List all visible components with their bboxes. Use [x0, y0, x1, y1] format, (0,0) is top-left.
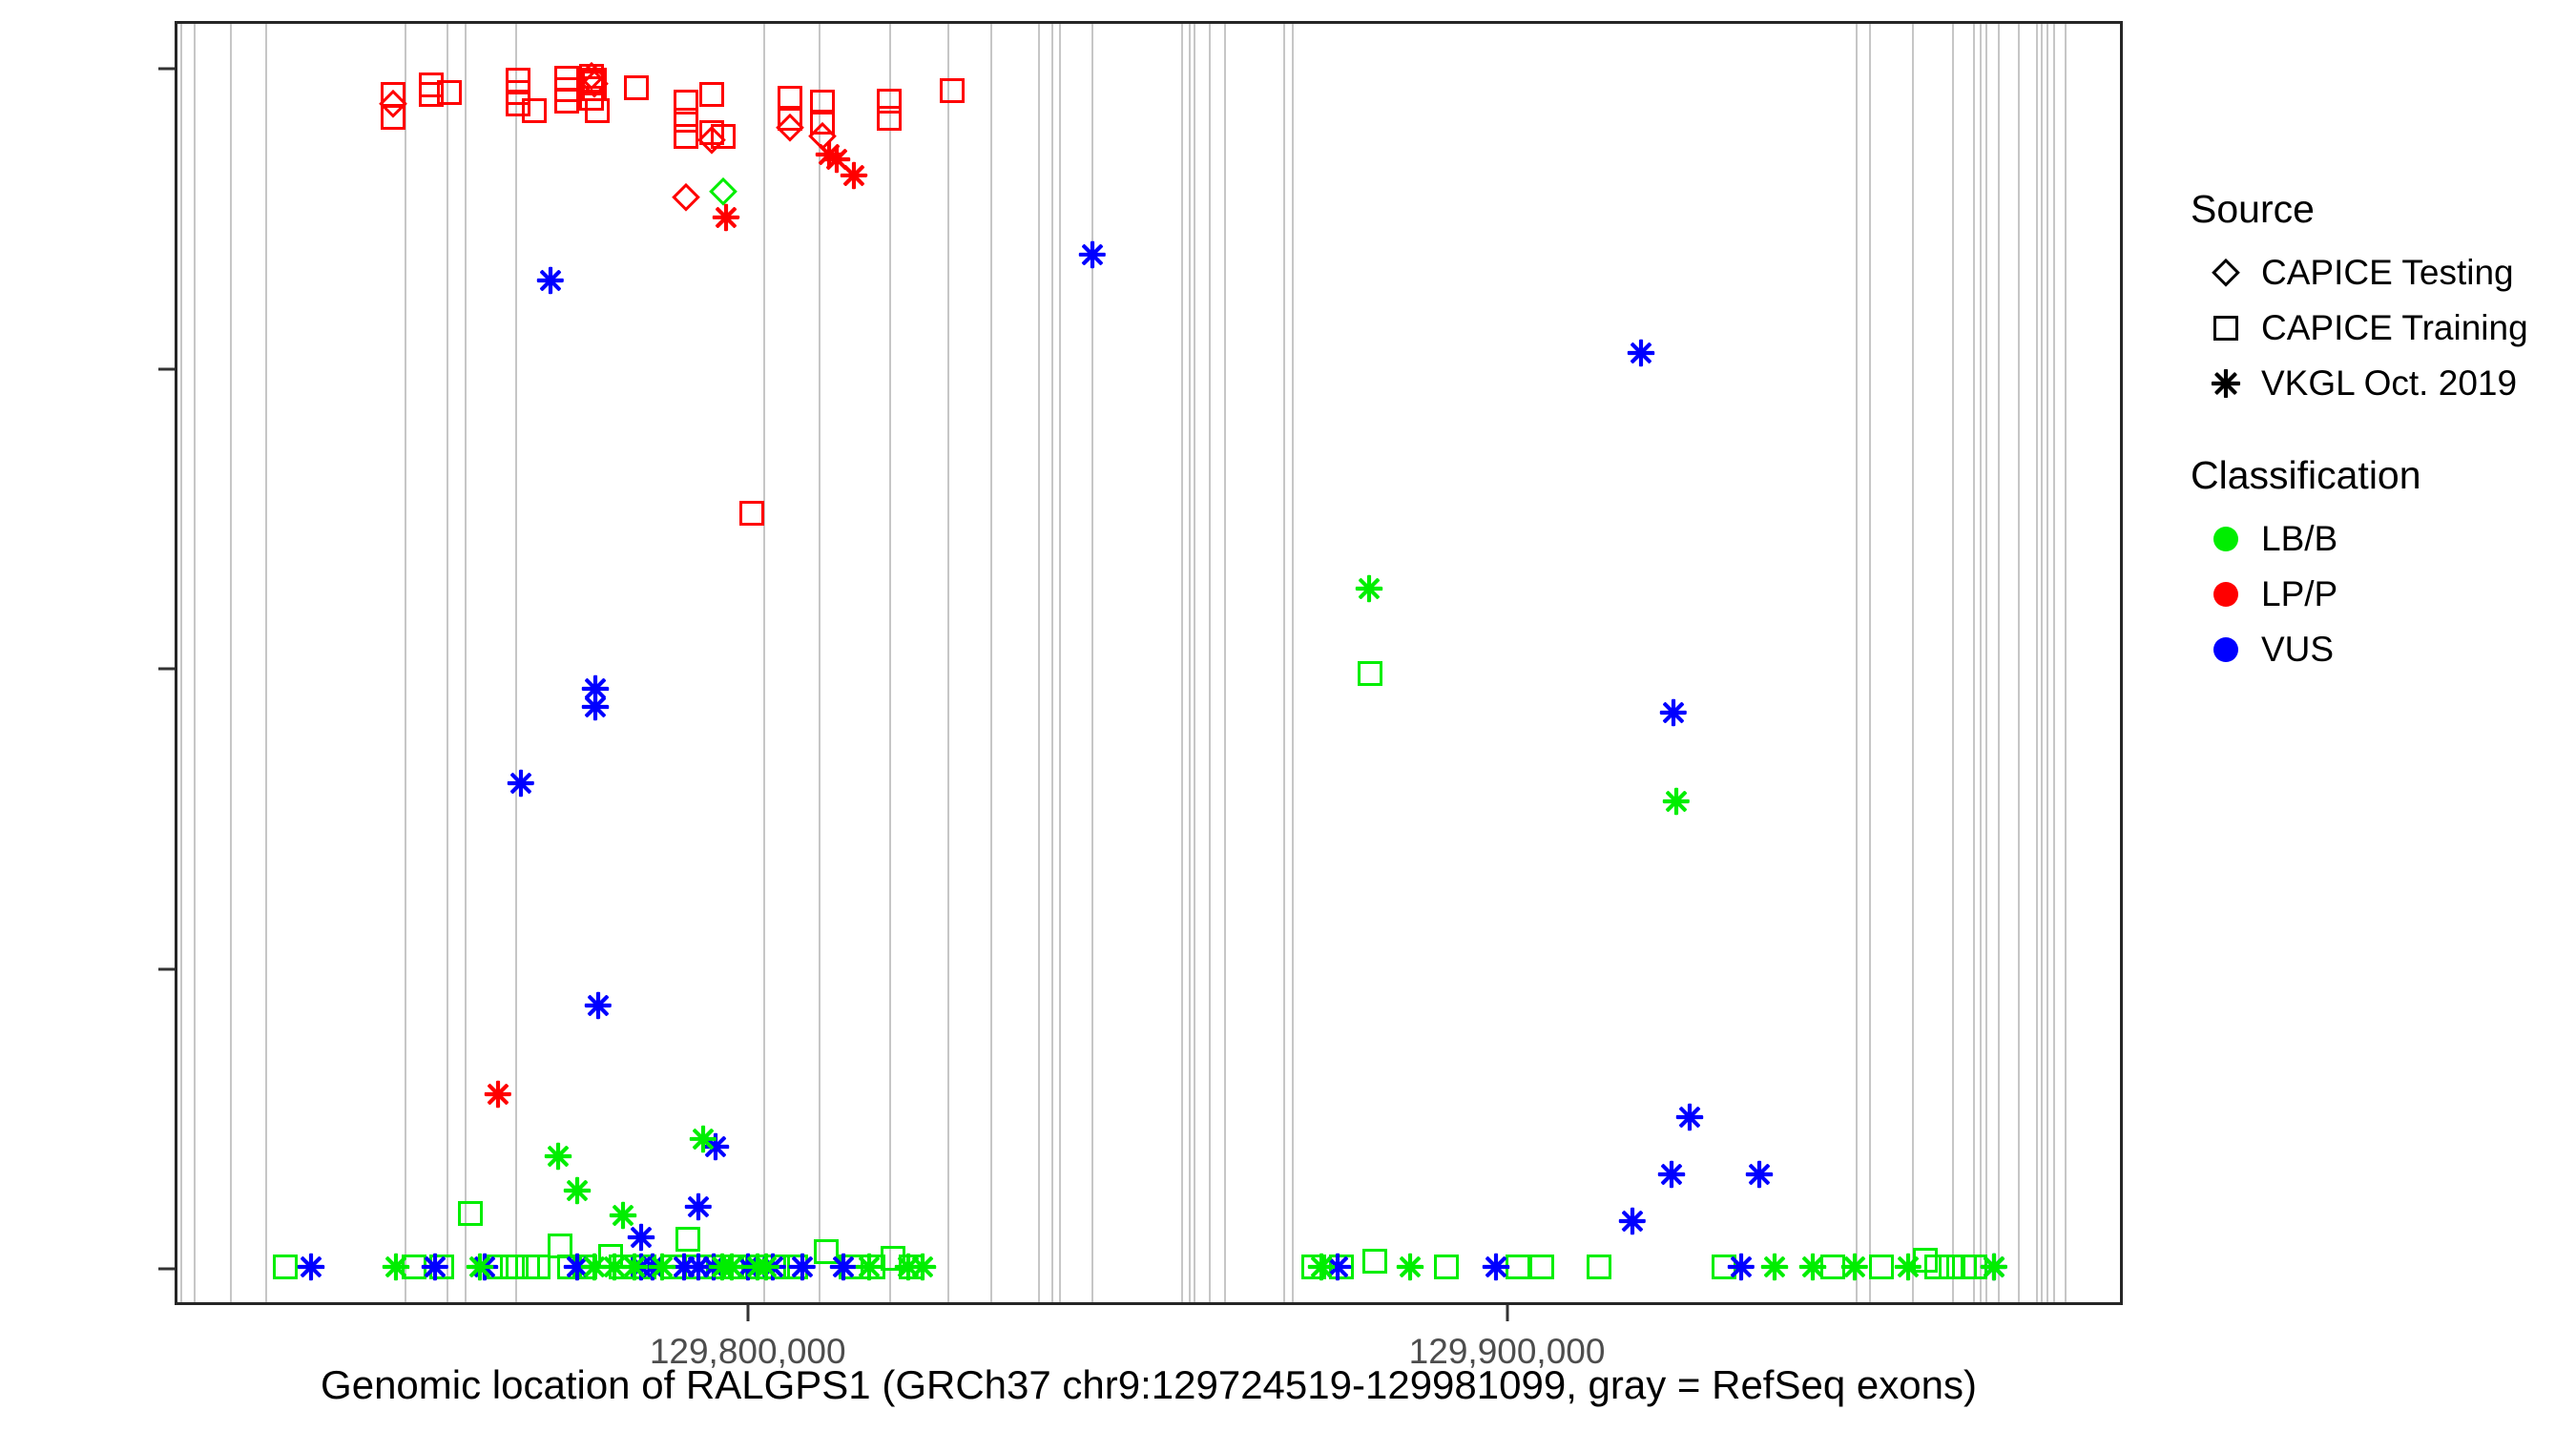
data-point: [623, 1255, 646, 1278]
exon-line: [2053, 24, 2055, 1302]
exon-line: [1985, 24, 1987, 1302]
circle-icon: [2191, 511, 2261, 567]
y-tick-mark: [158, 1268, 175, 1271]
data-point: [1913, 1248, 1938, 1273]
data-point: [609, 1255, 634, 1279]
data-point: [580, 70, 609, 98]
data-point: [1399, 1255, 1422, 1278]
data-point: [778, 86, 802, 111]
data-point: [825, 148, 848, 171]
y-tick-mark: [158, 367, 175, 370]
data-point: [778, 106, 802, 131]
data-point: [911, 1255, 934, 1278]
data-point: [687, 1255, 710, 1278]
data-point: [1326, 1255, 1349, 1278]
data-point: [674, 90, 698, 114]
legend-item-lb-b[interactable]: LB/B: [2191, 511, 2572, 567]
asterisk-icon: [2191, 356, 2261, 411]
exon-line: [990, 24, 992, 1302]
data-point: [1358, 661, 1382, 686]
data-point: [692, 1128, 715, 1151]
data-point: [709, 177, 737, 206]
data-point: [720, 1255, 743, 1278]
data-point: [832, 1255, 855, 1278]
data-point: [715, 206, 737, 229]
data-point: [1358, 577, 1381, 600]
data-point: [381, 82, 405, 107]
data-point: [940, 78, 965, 103]
data-point: [487, 1083, 509, 1106]
data-point: [741, 1255, 766, 1279]
data-point: [522, 98, 547, 123]
exon-line: [2018, 24, 2020, 1302]
legend-label: CAPICE Training: [2261, 308, 2528, 348]
data-point: [723, 1255, 748, 1279]
data-point: [1621, 1210, 1644, 1233]
plot-area: [177, 24, 2120, 1302]
legend-title-source: Source: [2191, 187, 2572, 232]
legend-item-lp-p[interactable]: LP/P: [2191, 567, 2572, 622]
data-point: [579, 76, 604, 101]
data-point: [506, 92, 530, 116]
data-point: [582, 76, 607, 101]
y-tick-mark: [158, 668, 175, 671]
exon-line: [405, 24, 406, 1302]
exon-line: [1181, 24, 1183, 1302]
data-point: [1529, 1255, 1554, 1279]
data-point: [1310, 1255, 1333, 1278]
data-point: [699, 120, 724, 145]
exon-line: [2036, 24, 2038, 1302]
x-axis-title: Genomic location of RALGPS1 (GRCh37 chr9…: [175, 1362, 2123, 1408]
data-point: [598, 1244, 623, 1269]
data-point: [661, 1255, 686, 1279]
legend-label: LB/B: [2261, 519, 2337, 559]
exon-line: [889, 24, 891, 1302]
exon-line: [265, 24, 267, 1302]
data-point: [572, 1255, 597, 1279]
data-point: [582, 68, 607, 93]
data-point: [548, 1234, 572, 1258]
data-point: [473, 1255, 496, 1278]
data-point: [587, 994, 610, 1017]
exon-line: [1980, 24, 1982, 1302]
data-point: [897, 1255, 920, 1278]
legend-label: LP/P: [2261, 574, 2337, 614]
data-point: [584, 677, 607, 700]
data-point: [1329, 1255, 1354, 1279]
data-point: [1665, 790, 1688, 813]
y-tick-mark: [158, 967, 175, 970]
data-point: [424, 1255, 447, 1278]
legend-item-vus[interactable]: VUS: [2191, 622, 2572, 677]
data-point: [706, 1255, 731, 1279]
exon-line: [447, 24, 448, 1302]
exon-line: [1194, 24, 1195, 1302]
data-point: [566, 1255, 589, 1278]
legend-label: VKGL Oct. 2019: [2261, 363, 2517, 404]
data-point: [603, 1255, 626, 1278]
data-point: [1362, 1249, 1387, 1274]
data-point: [1485, 1255, 1507, 1278]
data-point: [791, 1255, 814, 1278]
exon-line: [763, 24, 765, 1302]
data-point: [675, 1227, 700, 1252]
exon-line: [1869, 24, 1871, 1302]
data-point: [381, 105, 405, 130]
exon-line: [1224, 24, 1226, 1302]
data-point: [429, 1255, 454, 1279]
exon-line: [1912, 24, 1914, 1302]
x-tick-mark: [746, 1305, 749, 1321]
data-point: [526, 1255, 551, 1279]
data-point: [810, 90, 835, 114]
data-point: [1748, 1163, 1771, 1186]
data-point: [776, 114, 804, 142]
exon-line: [180, 24, 182, 1302]
x-tick-mark: [1506, 1305, 1508, 1321]
data-point: [1506, 1255, 1530, 1279]
data-point: [1801, 1255, 1824, 1278]
legend-item-capice-testing[interactable]: CAPICE Testing: [2191, 245, 2572, 301]
exon-line: [515, 24, 517, 1302]
exon-line: [194, 24, 196, 1302]
data-point: [746, 1255, 769, 1278]
data-point: [711, 124, 736, 149]
chart-root: CAPICE score (pathogenicity estimate) 0.…: [0, 0, 2576, 1431]
data-point: [419, 73, 444, 97]
data-point: [810, 110, 835, 135]
exon-line: [2065, 24, 2067, 1302]
data-point: [783, 1255, 808, 1279]
data-point: [577, 62, 606, 91]
data-point: [672, 183, 700, 212]
data-point: [765, 1255, 790, 1279]
data-point: [484, 1255, 509, 1279]
exon-line: [1952, 24, 1954, 1302]
data-point: [808, 122, 837, 151]
data-point: [554, 66, 579, 91]
data-point: [818, 143, 841, 166]
exon-line: [1091, 24, 1093, 1302]
data-point: [1820, 1255, 1845, 1279]
data-point: [842, 164, 865, 187]
data-point: [1763, 1255, 1786, 1278]
data-point: [579, 71, 604, 95]
data-point: [674, 124, 698, 149]
data-point: [468, 1255, 491, 1278]
data-point: [630, 1255, 653, 1278]
legend-classification: ClassificationLB/BLP/PVUS: [2191, 453, 2572, 677]
diamond-icon: [2191, 245, 2261, 301]
data-point: [585, 98, 610, 123]
data-point: [899, 1255, 924, 1279]
exon-line: [1059, 24, 1061, 1302]
data-point: [1434, 1255, 1459, 1279]
legend-label: CAPICE Testing: [2261, 253, 2514, 293]
data-point: [547, 1145, 570, 1168]
data-point: [1712, 1255, 1736, 1279]
data-point: [1660, 1163, 1683, 1186]
data-point: [506, 68, 530, 93]
data-point: [1662, 701, 1685, 724]
plot-panel-wrap: [175, 21, 2123, 1305]
exon-line: [2046, 24, 2048, 1302]
data-point: [554, 77, 579, 102]
data-point: [509, 772, 532, 795]
data-point: [881, 1246, 905, 1271]
data-point: [300, 1255, 322, 1278]
data-point: [858, 1255, 881, 1278]
exon-line: [1283, 24, 1285, 1302]
exon-line: [947, 24, 949, 1302]
data-point: [673, 1255, 696, 1278]
data-point: [814, 1239, 839, 1264]
data-point: [630, 1226, 653, 1249]
legend-title-classification: Classification: [2191, 453, 2572, 498]
data-point: [861, 1255, 885, 1279]
exon-line: [1189, 24, 1191, 1302]
data-point: [515, 1255, 540, 1279]
data-point: [458, 1201, 483, 1226]
data-point: [557, 1255, 582, 1279]
data-point: [273, 1255, 298, 1279]
data-point: [583, 1255, 606, 1278]
data-point: [1301, 1255, 1326, 1279]
legend-source: SourceCAPICE TestingCAPICE TrainingVKGL …: [2191, 187, 2572, 411]
data-point: [755, 1255, 778, 1278]
legend-item-capice-training[interactable]: CAPICE Training: [2191, 301, 2572, 356]
data-point: [684, 1255, 709, 1279]
exon-line: [1209, 24, 1211, 1302]
exon-line: [819, 24, 821, 1302]
data-point: [539, 269, 562, 292]
data-point: [437, 80, 462, 105]
exon-line: [1973, 24, 1975, 1302]
data-point: [687, 1195, 710, 1218]
data-point: [697, 126, 726, 155]
data-point: [1897, 1255, 1920, 1278]
data-point: [711, 1255, 734, 1278]
data-point: [702, 1255, 725, 1278]
data-point: [579, 64, 604, 89]
data-point: [1869, 1255, 1894, 1279]
exon-line: [1856, 24, 1858, 1302]
circle-icon: [2191, 567, 2261, 622]
plot-panel: [175, 21, 2123, 1305]
data-point: [554, 89, 579, 114]
data-point: [839, 1255, 863, 1279]
square-icon: [2191, 301, 2261, 356]
data-point: [584, 695, 607, 718]
exon-line: [1998, 24, 2000, 1302]
data-point: [1730, 1255, 1753, 1278]
data-point: [1630, 342, 1652, 364]
data-point: [506, 80, 530, 105]
legend-item-vkgl-oct-2019[interactable]: VKGL Oct. 2019: [2191, 356, 2572, 411]
data-point: [500, 1255, 525, 1279]
data-point: [737, 1255, 759, 1278]
data-point: [674, 108, 698, 133]
data-point: [699, 82, 724, 107]
data-point: [612, 1204, 634, 1227]
data-point: [1678, 1106, 1701, 1129]
data-point: [704, 1135, 727, 1158]
data-point: [566, 1179, 589, 1202]
data-point: [624, 75, 649, 100]
data-point: [641, 1255, 664, 1278]
data-point: [1924, 1255, 1949, 1279]
data-point: [739, 501, 764, 526]
data-point: [579, 86, 604, 111]
exon-line: [230, 24, 232, 1302]
data-point: [379, 90, 407, 118]
legend-label: VUS: [2261, 630, 2334, 670]
data-point: [419, 82, 444, 107]
data-point: [632, 1255, 656, 1279]
exon-line: [1038, 24, 1040, 1302]
y-tick-mark: [158, 68, 175, 71]
exon-line: [1292, 24, 1294, 1302]
data-point: [651, 1255, 674, 1278]
exon-line: [465, 24, 467, 1302]
circle-icon: [2191, 622, 2261, 677]
legend-container: SourceCAPICE TestingCAPICE TrainingVKGL …: [2191, 187, 2572, 719]
data-point: [1587, 1255, 1611, 1279]
exon-line: [1051, 24, 1053, 1302]
exon-line: [2041, 24, 2043, 1302]
